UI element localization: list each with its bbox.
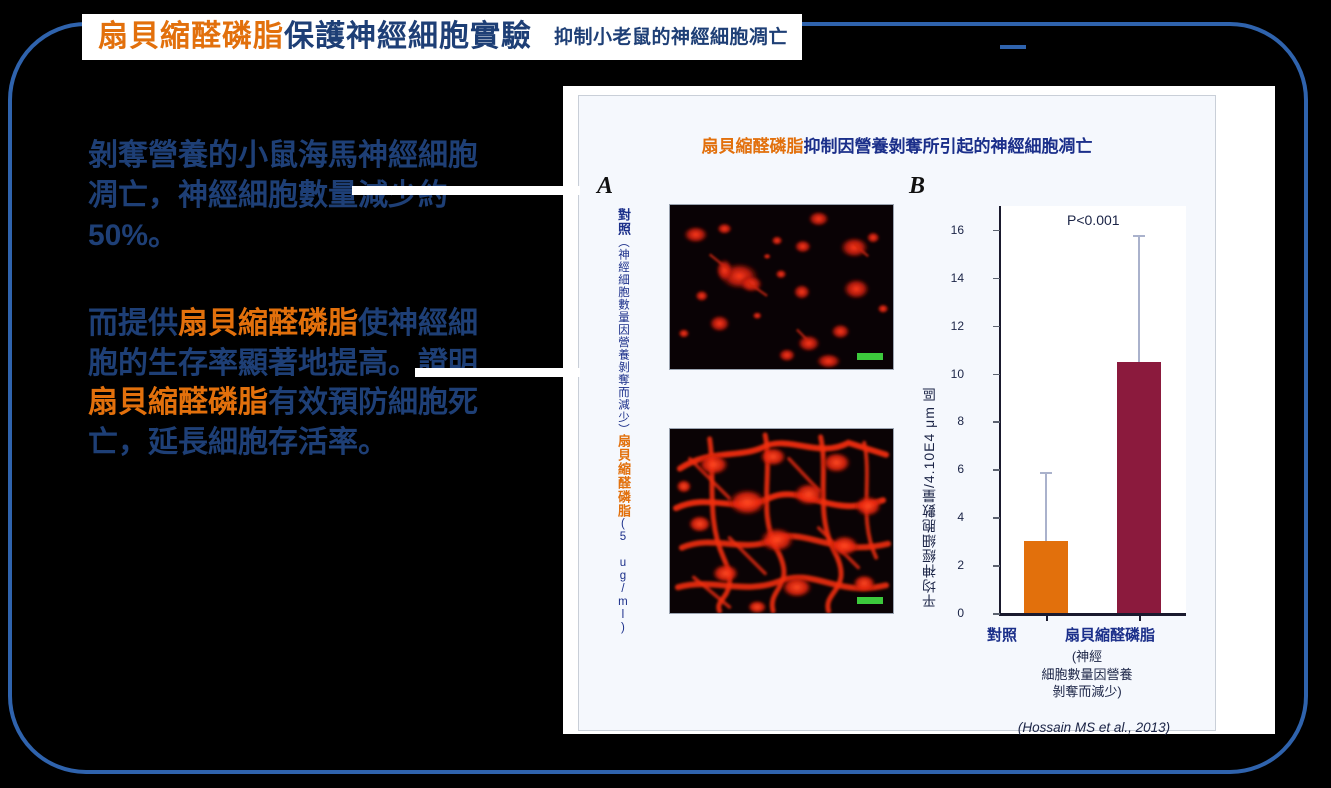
chart-y-tick — [993, 326, 1000, 328]
chart-y-tick-label: 14 — [951, 271, 964, 285]
chart-y-tick — [993, 613, 1000, 615]
chart-y-axis — [999, 206, 1001, 616]
connector-line-1 — [352, 186, 580, 195]
scale-bar-bottom — [857, 597, 883, 604]
chart-bar — [1117, 362, 1161, 613]
page-title-rest: 保護神經細胞實驗 — [284, 20, 532, 53]
title-bar: 扇貝縮醛磷脂保護神經細胞實驗 抑制小老鼠的神經細胞凋亡 — [82, 14, 802, 60]
chart-x-label-treatment: 扇貝縮醛磷脂 — [1065, 624, 1155, 645]
panel-letter-b: B — [909, 173, 925, 200]
chart-x-label-control: 對照 — [987, 624, 1017, 645]
micrograph-top-label-group: 對照（神經細胞數量因營養剝奪而減少） — [615, 208, 630, 368]
title-accent-rule — [1000, 45, 1026, 49]
chart-y-tick — [993, 469, 1000, 471]
page-title-highlight: 扇貝縮醛磷脂 — [98, 20, 284, 53]
chart-y-tick-label: 16 — [951, 223, 964, 237]
paragraph-2-highlight-1: 扇貝縮醛磷脂 — [178, 307, 358, 340]
page-subtitle: 抑制小老鼠的神經細胞凋亡 — [554, 28, 788, 47]
page-title: 扇貝縮醛磷脂保護神經細胞實驗 — [98, 22, 532, 52]
micrograph-treatment-image — [669, 428, 894, 614]
chart-y-tick-label: 2 — [957, 558, 964, 572]
chart-y-tick — [993, 421, 1000, 423]
chart-x-tick — [1139, 613, 1141, 621]
chart-y-tick-label: 6 — [957, 462, 964, 476]
chart-y-tick-label: 8 — [957, 414, 964, 428]
chart-y-tick-label: 12 — [951, 319, 964, 333]
paragraph-2-highlight-2: 扇貝縮醛磷脂 — [88, 386, 268, 419]
chart-error-cap — [1040, 472, 1052, 474]
bar-chart: 0246810121416 P<0.001 — [971, 206, 1186, 616]
connector-line-2 — [415, 368, 580, 377]
micrograph-top-label: 對照 — [616, 208, 631, 236]
micrograph-control-svg — [670, 205, 893, 369]
chart-y-tick-label: 10 — [951, 367, 964, 381]
paragraph-1: 剝奪營養的小鼠海馬神經細胞凋亡，神經細胞數量減少約50%。 — [88, 136, 488, 256]
figure-panel: 扇貝縮醛磷脂抑制因營養剝奪所引起的神經細胞凋亡 A B 對照（神經細胞數量因營養… — [578, 95, 1216, 731]
panel-letter-a: A — [597, 173, 613, 200]
chart-error-bar — [1045, 474, 1047, 541]
micrograph-bottom-sublabel: (5 ug/ml) — [617, 518, 629, 635]
chart-y-tick — [993, 278, 1000, 280]
chart-y-tick — [993, 517, 1000, 519]
paragraph-2-part-a: 而提供 — [88, 307, 178, 340]
chart-pvalue-annotation: P<0.001 — [1067, 212, 1120, 228]
micrograph-treatment — [669, 428, 894, 614]
scale-bar-top — [857, 353, 883, 360]
micrograph-bottom-label: 扇貝縮醛磷脂 — [616, 434, 631, 518]
chart-y-tick — [993, 230, 1000, 232]
chart-citation: (Hossain MS et al., 2013) — [971, 720, 1217, 735]
figure-title-highlight: 扇貝縮醛磷脂 — [702, 137, 804, 156]
chart-x-sublabel: (神經細胞數量因營養剝奪而減少) — [971, 648, 1203, 701]
chart-x-tick — [1046, 613, 1048, 621]
paragraph-2: 而提供扇貝縮醛磷脂使神經細胞的生存率顯著地提高。證明扇貝縮醛磷脂有效預防細胞死亡… — [88, 304, 488, 464]
figure-title-rest: 抑制因營養剝奪所引起的神經細胞凋亡 — [804, 137, 1093, 156]
chart-bar — [1024, 541, 1068, 613]
chart-y-tick — [993, 374, 1000, 376]
chart-x-axis — [999, 613, 1186, 616]
chart-x-sublabel-line: (神經 — [971, 648, 1203, 666]
micrograph-bottom-label-group: 扇貝縮醛磷脂(5 ug/ml) — [615, 434, 630, 610]
chart-error-cap — [1133, 235, 1145, 237]
micrograph-top-sublabel: （神經細胞數量因營養剝奪而減少） — [617, 236, 629, 436]
chart-x-sublabel-line: 細胞數量因營養 — [971, 666, 1203, 684]
chart-x-sublabel-line: 剝奪而減少) — [971, 683, 1203, 701]
micrograph-control-image — [669, 204, 894, 370]
chart-error-bar — [1138, 237, 1140, 361]
chart-y-tick-label: 0 — [957, 606, 964, 620]
chart-y-axis-title: 平均神經細胞數量/4.10E4 μm 區 — [919, 216, 939, 608]
micrograph-treatment-svg — [670, 429, 893, 613]
figure-title: 扇貝縮醛磷脂抑制因營養剝奪所引起的神經細胞凋亡 — [579, 132, 1215, 157]
chart-y-tick-label: 4 — [957, 510, 964, 524]
chart-y-tick — [993, 565, 1000, 567]
micrograph-control — [669, 204, 894, 370]
